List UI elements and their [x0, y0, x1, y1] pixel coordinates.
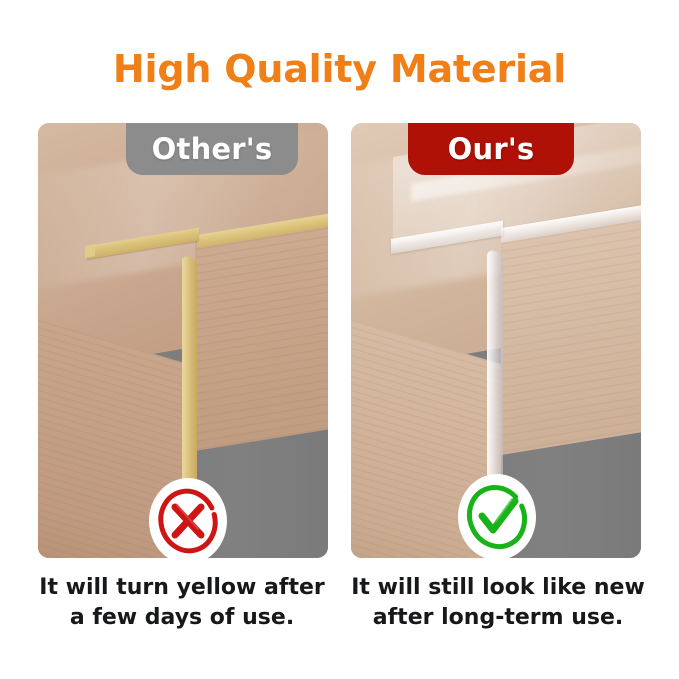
table-side-face-ours	[501, 217, 641, 455]
caption-ours-line1: It will still look like new	[338, 573, 658, 603]
badge-ours-label: Our's	[448, 132, 535, 166]
yellowed-guard-end-cap-others	[85, 244, 95, 258]
wood-grain-texture	[195, 217, 328, 451]
verdict-ours	[458, 474, 536, 560]
badge-ours: Our's	[408, 123, 574, 175]
caption-ours: It will still look like new after long-t…	[338, 573, 658, 632]
caption-ours-line2: after long-term use.	[338, 603, 658, 633]
caption-others-line2: a few days of use.	[22, 603, 342, 633]
caption-others: It will turn yellow after a few days of …	[22, 573, 342, 632]
wood-grain-texture	[501, 217, 641, 455]
page-title: High Quality Material	[0, 50, 679, 88]
caption-others-line1: It will turn yellow after	[22, 573, 342, 603]
cross-circle-icon	[157, 488, 219, 554]
badge-others-label: Other's	[152, 132, 273, 166]
table-side-face-others	[195, 217, 328, 451]
badge-others: Other's	[126, 123, 298, 175]
check-circle-icon	[465, 483, 529, 551]
verdict-others	[149, 478, 227, 564]
